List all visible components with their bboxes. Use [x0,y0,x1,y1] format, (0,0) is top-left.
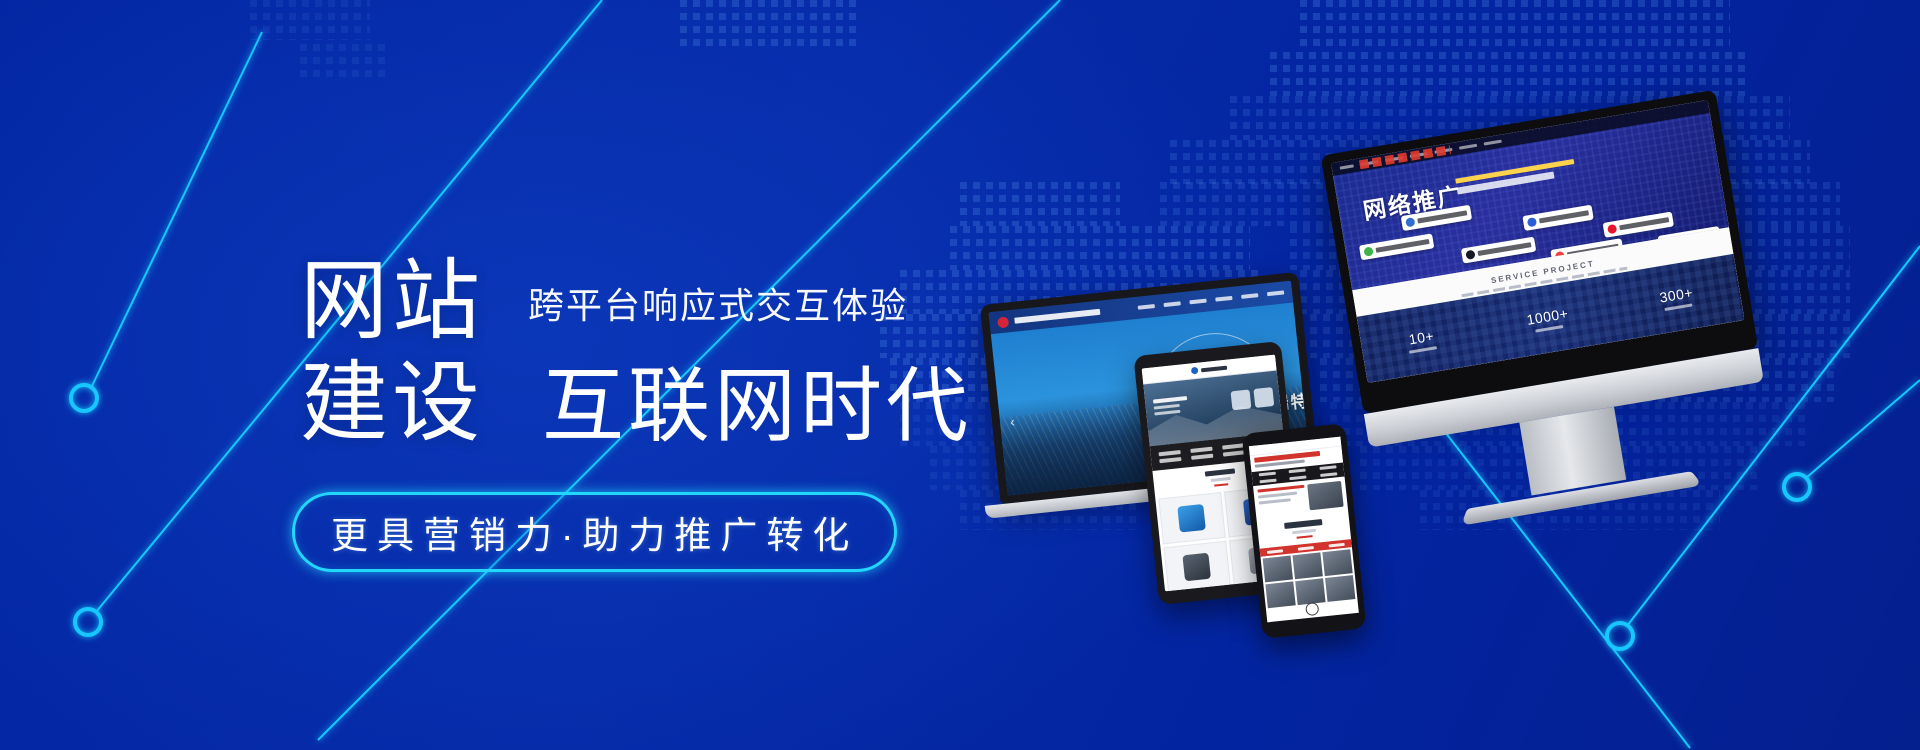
phone-product-grid [1260,547,1357,610]
headline-row-2: 建设 互联网时代 [300,357,1060,449]
hero-text-block: 网站 跨平台响应式交互体验 建设 互联网时代 更具营销力·助力推广转化 [300,255,1060,572]
stat-value: 300+ [1658,284,1694,305]
headline-row-1: 网站 跨平台响应式交互体验 [300,255,1060,347]
device-mockup-cluster: 网络推广 [990,120,1750,640]
badge-mark [1405,217,1415,227]
filter-item[interactable] [1328,542,1344,547]
menu-item[interactable] [1290,475,1307,480]
menu-item[interactable] [1267,290,1284,296]
badge-mark [1607,224,1617,234]
phone-bezel [1242,423,1367,639]
laptop-brand-name [1014,309,1100,324]
badge-mark [1465,250,1475,260]
monitor-stand-neck [1519,407,1626,496]
product-cell[interactable] [1158,492,1225,544]
headline-line2: 建设 [300,357,484,449]
phone-mockup [1242,423,1367,639]
stat-item: 1000+ [1525,305,1570,334]
menu-item[interactable] [1138,304,1155,310]
stat-value: 1000+ [1525,305,1569,328]
headline-accent: 互联网时代 [542,364,972,450]
menu-item[interactable] [1259,472,1276,477]
menu-item[interactable] [1259,479,1276,484]
tablet-hero-products [1231,387,1275,410]
tablet-brand-name [1201,365,1227,372]
hero-tagline: 跨平台响应式交互体验 [528,277,908,329]
menu-item[interactable] [1320,472,1337,477]
filter-item[interactable] [1267,549,1283,554]
tablet-hero-caption [1153,396,1189,418]
menu-item[interactable] [1222,443,1244,449]
menu-item[interactable] [1320,465,1337,470]
menu-item[interactable] [1189,299,1206,305]
badge-mark [1527,217,1537,227]
tablet-logo-icon [1191,367,1199,375]
company-logo-icon [997,316,1009,328]
stat-item: 300+ [1658,284,1695,311]
menu-item[interactable] [1289,468,1306,473]
monitor-site-navbar[interactable] [1331,100,1710,176]
product-cell[interactable] [1265,581,1295,608]
product-cell[interactable] [1263,556,1293,583]
product-cell[interactable] [1163,541,1230,592]
menu-item[interactable] [1159,450,1181,456]
menu-item[interactable] [1223,450,1245,456]
badge-item[interactable] [1603,212,1675,238]
product-thumb [1178,504,1207,533]
slogan-pill[interactable]: 更具营销力·助力推广转化 [292,492,897,572]
news-text [1257,485,1306,516]
menu-item[interactable] [1215,296,1232,302]
monitor-screen: 网络推广 [1331,100,1745,383]
phone-screen [1249,437,1359,623]
menu-item[interactable] [1164,301,1181,307]
stat-value: 10+ [1406,327,1436,347]
menu-item[interactable] [1191,454,1213,460]
menu-item[interactable] [1159,457,1181,463]
filter-item[interactable] [1298,546,1314,551]
product-cell[interactable] [1295,578,1325,605]
badge-item[interactable] [1359,233,1434,260]
stat-item: 10+ [1406,327,1437,353]
phone-home-button[interactable] [1305,602,1319,616]
slogan-pill-label: 更具营销力·助力推广转化 [331,505,858,559]
badge-item[interactable] [1461,237,1536,264]
product-cell[interactable] [1322,549,1352,576]
headline-line1: 网站 [300,255,484,347]
menu-item[interactable] [1241,293,1258,299]
news-thumb [1307,481,1344,510]
badge-item[interactable] [1522,205,1594,231]
product-cell[interactable] [1292,552,1322,579]
badge-mark [1363,246,1373,256]
product-cell[interactable] [1325,575,1355,602]
product-thumb [1183,553,1212,582]
hero-banner: 网站 跨平台响应式交互体验 建设 互联网时代 更具营销力·助力推广转化 [0,0,1920,750]
desktop-monitor-mockup: 网络推广 [1321,90,1780,541]
menu-item[interactable] [1190,447,1212,453]
